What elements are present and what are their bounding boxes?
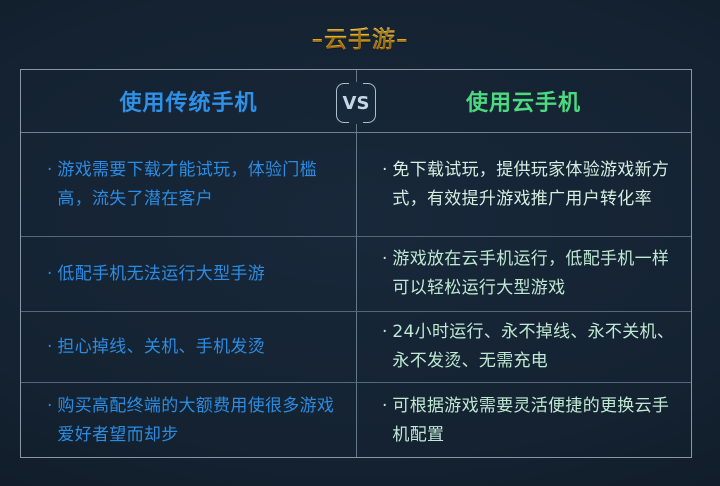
page-title: –云手游–: [0, 20, 720, 54]
cell-text-cloud-1: 免下载试玩，提供玩家体验游戏新方式，有效提升游戏推广用户转化率: [392, 156, 675, 214]
bullet-icon: ·: [382, 392, 387, 421]
bullet-icon: ·: [382, 245, 387, 274]
page-title-text: –云手游–: [312, 20, 409, 54]
bullet-icon: ·: [382, 156, 387, 185]
bullet-icon: ·: [47, 260, 52, 289]
cell-text-cloud-4: 可根据游戏需要灵活便捷的更换云手机配置: [392, 392, 675, 450]
cell-cloud-4: · 可根据游戏需要灵活便捷的更换云手机配置: [356, 383, 691, 459]
table-body: · 游戏需要下载才能试玩，体验门槛高，流失了潜在客户 · 免下载试玩，提供玩家体…: [21, 133, 691, 457]
bullet-icon: ·: [47, 392, 52, 421]
cell-traditional-3: · 担心掉线、关机、手机发烫: [21, 312, 356, 382]
cell-traditional-2: · 低配手机无法运行大型手游: [21, 237, 356, 311]
cell-text-traditional-3: 担心掉线、关机、手机发烫: [57, 333, 265, 362]
header-cell-cloud: 使用云手机: [356, 70, 691, 132]
cell-text-cloud-2: 游戏放在云手机运行，低配手机一样可以轻松运行大型游戏: [392, 245, 675, 303]
cell-text-traditional-2: 低配手机无法运行大型手游: [57, 260, 265, 289]
table-row: · 低配手机无法运行大型手游 · 游戏放在云手机运行，低配手机一样可以轻松运行大…: [21, 237, 691, 312]
table-row: · 购买高配终端的大额费用使很多游戏爱好者望而却步 · 可根据游戏需要灵活便捷的…: [21, 383, 691, 459]
table-row: · 游戏需要下载才能试玩，体验门槛高，流失了潜在客户 · 免下载试玩，提供玩家体…: [21, 133, 691, 237]
header-label-cloud: 使用云手机: [466, 85, 581, 117]
cell-text-traditional-1: 游戏需要下载才能试玩，体验门槛高，流失了潜在客户: [57, 156, 340, 214]
header-label-traditional: 使用传统手机: [119, 85, 257, 117]
cell-cloud-3: · 24小时运行、永不掉线、永不关机、永不发烫、无需充电: [356, 312, 691, 382]
vs-badge-label: VS: [336, 83, 376, 123]
cell-text-traditional-4: 购买高配终端的大额费用使很多游戏爱好者望而却步: [57, 392, 340, 450]
header-cell-traditional: 使用传统手机: [21, 70, 356, 132]
cell-cloud-1: · 免下载试玩，提供玩家体验游戏新方式，有效提升游戏推广用户转化率: [356, 133, 691, 236]
bullet-icon: ·: [47, 156, 52, 185]
cell-traditional-1: · 游戏需要下载才能试玩，体验门槛高，流失了潜在客户: [21, 133, 356, 236]
cell-cloud-2: · 游戏放在云手机运行，低配手机一样可以轻松运行大型游戏: [356, 237, 691, 311]
table-row: · 担心掉线、关机、手机发烫 · 24小时运行、永不掉线、永不关机、永不发烫、无…: [21, 312, 691, 383]
cell-text-cloud-3: 24小时运行、永不掉线、永不关机、永不发烫、无需充电: [392, 318, 675, 376]
bullet-icon: ·: [47, 333, 52, 362]
bullet-icon: ·: [382, 318, 387, 347]
comparison-table: 使用传统手机 使用云手机 VS · 游戏需要下载才能试玩，体验门槛高，流失了潜在…: [20, 69, 692, 458]
page-root: –云手游– 使用传统手机 使用云手机 VS · 游戏需要下载才能试玩，体: [0, 0, 720, 486]
cell-traditional-4: · 购买高配终端的大额费用使很多游戏爱好者望而却步: [21, 383, 356, 459]
vs-badge: VS: [336, 83, 376, 123]
